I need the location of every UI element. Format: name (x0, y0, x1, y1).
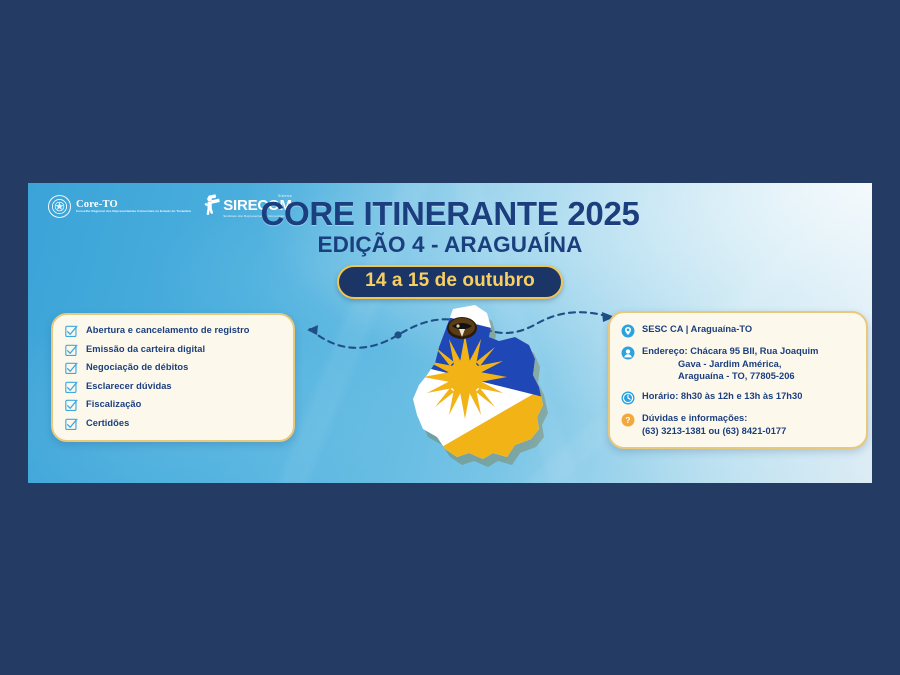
service-item: Abertura e cancelamento de registro (65, 324, 283, 338)
coreto-logo-subtitle: Conselho Regional dos Representantes Com… (76, 210, 191, 213)
map-marker-icon (621, 346, 635, 360)
contact-text: Dúvidas e informações: (63) 3213-1381 ou… (642, 412, 786, 437)
event-date-badge: 14 a 15 de outubro (337, 265, 563, 299)
date-badge-container: 14 a 15 de outubro (28, 265, 872, 299)
contact-line-2: (63) 3213-1381 ou (63) 8421-0177 (642, 425, 786, 438)
event-banner: Core-TO Conselho Regional dos Representa… (28, 183, 872, 483)
contact-line-1: Dúvidas e informações: (642, 413, 747, 423)
checkbox-checked-icon (65, 344, 78, 357)
service-item-label: Esclarecer dúvidas (86, 380, 172, 392)
coat-of-arms-icon (48, 195, 71, 218)
service-item-label: Fiscalização (86, 398, 141, 410)
sirecom-logo-name: SIRECOM (223, 199, 292, 213)
running-person-icon (204, 194, 221, 216)
event-subtitle: EDIÇÃO 4 - ARAGUAÍNA (28, 232, 872, 257)
checkbox-checked-icon (65, 399, 78, 412)
service-item: Negociação de débitos (65, 361, 283, 375)
svg-text:?: ? (625, 415, 630, 425)
info-card: SESC CA | Araguaína-TO Endereço: Chácara… (608, 311, 868, 449)
hours-row: Horário: 8h30 às 12h e 13h às 17h30 (621, 390, 856, 405)
sirecom-logo-text: Sistema SIRECOM Sindicato dos Representa… (223, 194, 292, 218)
clock-icon (621, 391, 635, 405)
sirecom-logo-subtitle: Sindicato dos Representantes Comerciais (223, 214, 292, 218)
service-item-label: Abertura e cancelamento de registro (86, 324, 249, 336)
service-item: Fiscalização (65, 398, 283, 412)
service-item: Certidões (65, 417, 283, 431)
coreto-logo-text: Core-TO Conselho Regional dos Representa… (76, 199, 191, 214)
service-item-label: Negociação de débitos (86, 361, 188, 373)
logo-group: Core-TO Conselho Regional dos Representa… (48, 194, 292, 218)
coreto-logo: Core-TO Conselho Regional dos Representa… (48, 195, 191, 218)
location-pin-icon (621, 324, 635, 338)
service-item-label: Certidões (86, 417, 129, 429)
services-card: Abertura e cancelamento de registro Emis… (51, 313, 295, 442)
address-line-3: Araguaína - TO, 77805-206 (642, 370, 818, 383)
service-item-label: Emissão da carteira digital (86, 343, 205, 355)
checkbox-checked-icon (65, 418, 78, 431)
address-line-2: Gava - Jardim América, (642, 358, 818, 371)
service-item: Emissão da carteira digital (65, 343, 283, 357)
venue-text: SESC CA | Araguaína-TO (642, 323, 752, 336)
service-item: Esclarecer dúvidas (65, 380, 283, 394)
address-text: Endereço: Chácara 95 BII, Rua Joaquim Ga… (642, 345, 818, 383)
tocantins-state-map (383, 301, 573, 481)
sirecom-logo: Sistema SIRECOM Sindicato dos Representa… (204, 194, 292, 218)
hours-text: Horário: 8h30 às 12h e 13h às 17h30 (642, 390, 802, 403)
checkbox-checked-icon (65, 381, 78, 394)
address-row: Endereço: Chácara 95 BII, Rua Joaquim Ga… (621, 345, 856, 383)
venue-row: SESC CA | Araguaína-TO (621, 323, 856, 338)
contact-row: ? Dúvidas e informações: (63) 3213-1381 … (621, 412, 856, 437)
sirecom-trademark: Sistema (278, 194, 292, 198)
checkbox-checked-icon (65, 325, 78, 338)
checkbox-checked-icon (65, 362, 78, 375)
address-line-1: Endereço: Chácara 95 BII, Rua Joaquim (642, 346, 818, 356)
question-mark-icon: ? (621, 413, 635, 427)
photo-location-marker-icon (447, 317, 477, 339)
